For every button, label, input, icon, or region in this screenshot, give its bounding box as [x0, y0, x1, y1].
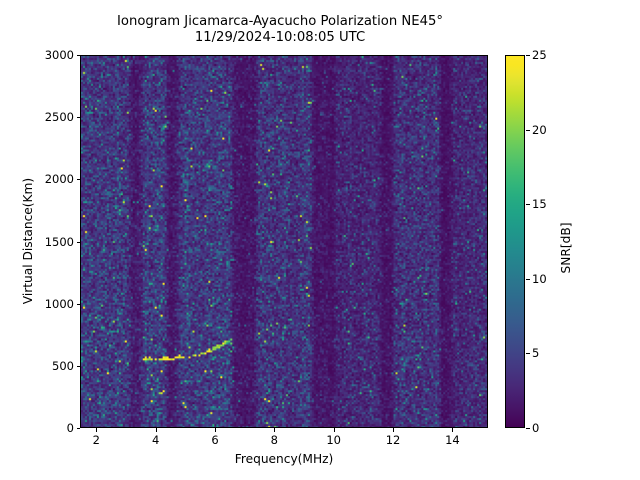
y-tick-mark	[77, 304, 81, 305]
x-axis-label: Frequency(MHz)	[80, 452, 488, 466]
x-tick-mark	[215, 428, 216, 432]
x-tick-label: 14	[445, 433, 460, 447]
y-tick-label: 3000	[20, 48, 74, 62]
y-tick-label: 500	[20, 359, 74, 373]
colorbar-tick-mark	[526, 353, 530, 354]
y-tick-mark	[77, 428, 81, 429]
x-tick-mark	[393, 428, 394, 432]
colorbar-tick-label: 20	[532, 123, 547, 137]
figure-title: Ionogram Jicamarca-Ayacucho Polarization…	[0, 14, 560, 45]
colorbar-tick-mark	[526, 428, 530, 429]
ionogram-plot-area	[80, 55, 488, 428]
ionogram-heatmap	[81, 56, 487, 427]
colorbar-tick-label: 5	[532, 346, 539, 360]
x-tick-mark	[452, 428, 453, 432]
colorbar-tick-label: 0	[532, 421, 539, 435]
colorbar-gradient	[506, 56, 524, 427]
x-tick-label: 4	[152, 433, 159, 447]
colorbar-tick-mark	[526, 204, 530, 205]
x-tick-label: 6	[211, 433, 218, 447]
x-tick-label: 2	[93, 433, 100, 447]
x-tick-label: 12	[386, 433, 401, 447]
y-tick-label: 2500	[20, 110, 74, 124]
colorbar-tick-label: 25	[532, 48, 547, 62]
ionogram-figure: Ionogram Jicamarca-Ayacucho Polarization…	[0, 0, 640, 480]
colorbar-tick-label: 10	[532, 272, 547, 286]
colorbar-tick-mark	[526, 279, 530, 280]
y-tick-mark	[77, 55, 81, 56]
x-tick-label: 10	[326, 433, 341, 447]
y-tick-mark	[77, 179, 81, 180]
colorbar-tick-label: 15	[532, 197, 547, 211]
y-tick-mark	[77, 366, 81, 367]
x-tick-mark	[274, 428, 275, 432]
y-axis-label: Virtual Distance(Km)	[21, 141, 35, 341]
x-tick-label: 8	[271, 433, 278, 447]
colorbar	[505, 55, 525, 428]
y-tick-mark	[77, 242, 81, 243]
x-tick-mark	[334, 428, 335, 432]
x-tick-mark	[96, 428, 97, 432]
y-tick-mark	[77, 117, 81, 118]
x-tick-mark	[156, 428, 157, 432]
colorbar-tick-mark	[526, 130, 530, 131]
colorbar-tick-mark	[526, 55, 530, 56]
y-tick-label: 0	[20, 421, 74, 435]
colorbar-label: SNR[dB]	[559, 188, 573, 308]
